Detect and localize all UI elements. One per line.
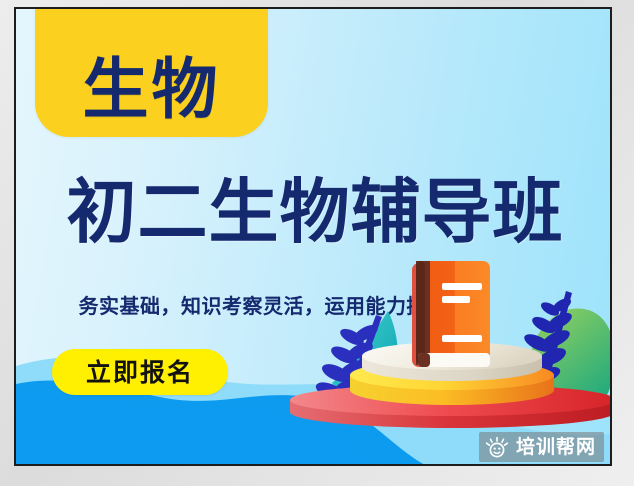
enroll-now-button[interactable]: 立即报名 <box>52 349 228 395</box>
enroll-now-button-label: 立即报名 <box>86 360 194 385</box>
banner-stage: 生物 初二生物辅导班 务实基础，知识考察灵活，运用能力提升 立即报名 <box>16 9 610 464</box>
illustration-group <box>286 259 610 459</box>
screenshot-canvas: 生物 初二生物辅导班 务实基础，知识考察灵活，运用能力提升 立即报名 <box>0 0 634 486</box>
site-watermark-label: 培训帮网 <box>516 438 596 457</box>
subject-badge: 生物 <box>35 9 268 137</box>
book-icon <box>404 261 490 371</box>
sun-face-icon <box>485 437 509 458</box>
course-promo-banner: 生物 初二生物辅导班 务实基础，知识考察灵活，运用能力提升 立即报名 <box>14 7 612 466</box>
site-watermark: 培训帮网 <box>479 432 604 462</box>
page-title: 初二生物辅导班 <box>26 177 604 247</box>
subject-badge-label: 生物 <box>83 57 221 123</box>
